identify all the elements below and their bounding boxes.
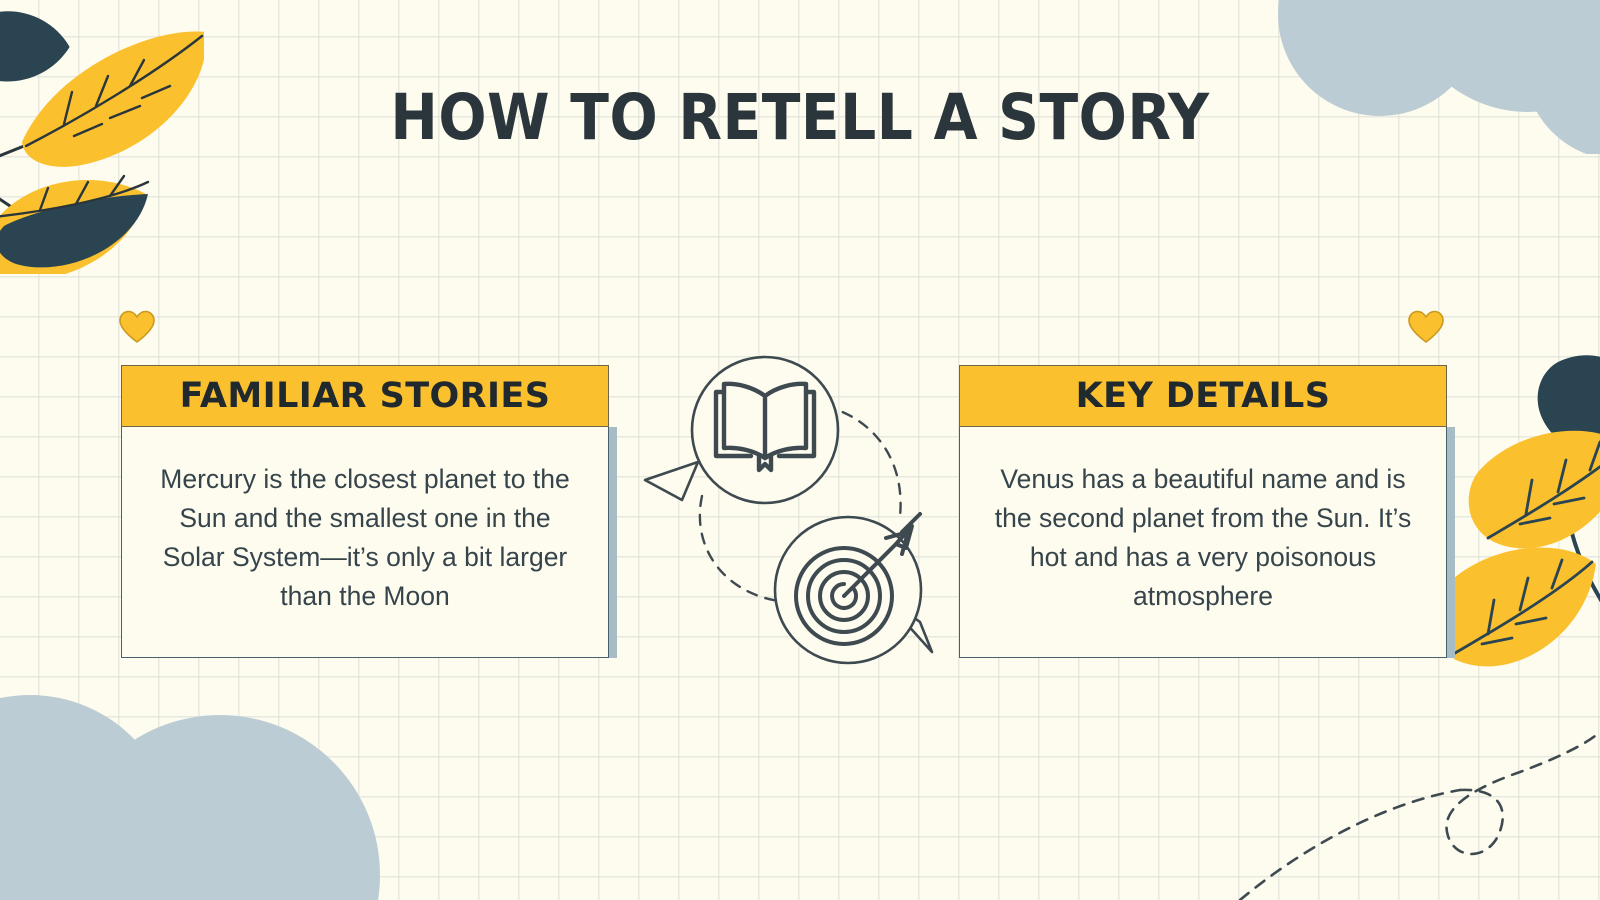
card-body-familiar-stories: Mercury is the closest planet to the Sun…	[121, 427, 609, 658]
card-body-key-details: Venus has a beautiful name and is the se…	[959, 427, 1447, 658]
heart-icon-left	[119, 310, 155, 344]
card-header-label: KEY DETAILS	[1076, 376, 1331, 416]
card-key-details[interactable]: KEY DETAILS Venus has a beautiful name a…	[959, 365, 1447, 658]
leaves-cluster-right	[1454, 352, 1600, 682]
card-header-familiar-stories: FAMILIAR STORIES	[121, 365, 609, 427]
card-header-label: FAMILIAR STORIES	[180, 376, 551, 416]
card-body-text: Venus has a beautiful name and is the se…	[984, 460, 1422, 616]
page-title: HOW TO RETELL A STORY	[0, 86, 1600, 149]
card-body-text: Mercury is the closest planet to the Sun…	[146, 460, 584, 616]
slide-canvas: HOW TO RETELL A STORY FAMILIAR STORIES M…	[0, 0, 1600, 900]
dashed-loop-squiggle	[1180, 680, 1600, 900]
card-familiar-stories[interactable]: FAMILIAR STORIES Mercury is the closest …	[121, 365, 609, 658]
card-header-key-details: KEY DETAILS	[959, 365, 1447, 427]
heart-icon-right	[1408, 310, 1444, 344]
center-bubble-graphic	[620, 330, 960, 670]
cloud-shape-bottom-left	[0, 660, 400, 900]
speech-bubble-book	[645, 357, 838, 503]
speech-bubble-target	[775, 514, 932, 663]
